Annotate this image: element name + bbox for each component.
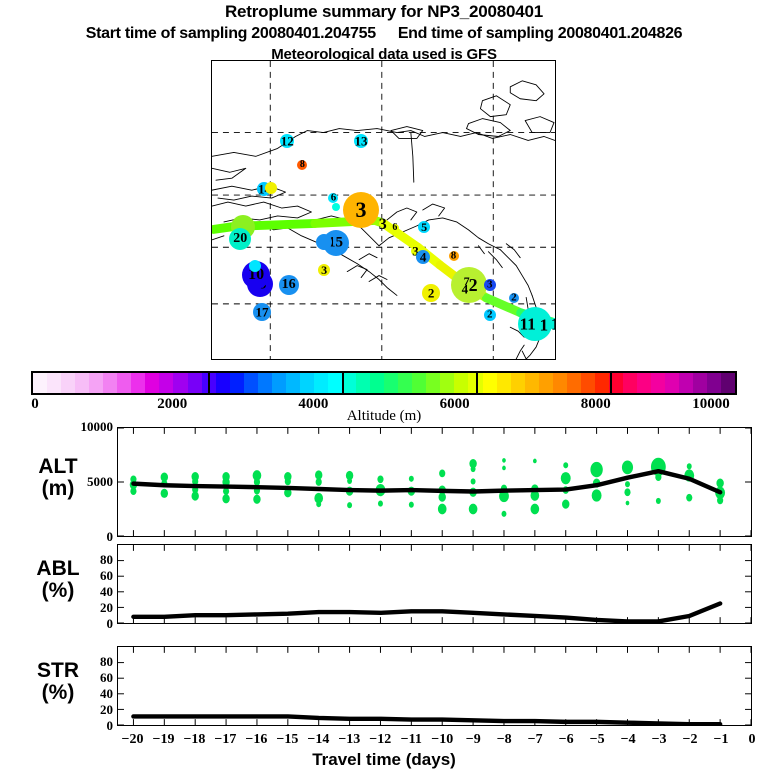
map-marker-label-3-7: 3 <box>356 199 367 221</box>
sampling-time-line: Start time of sampling 20080401.204755En… <box>0 25 768 43</box>
colorbar-swatch-30 <box>454 373 468 393</box>
colorbar-swatch-42 <box>623 373 637 393</box>
alt-scatter-point-54 <box>561 472 571 484</box>
alt-scatter-point-56 <box>562 500 569 509</box>
alt-scatter-point-17 <box>253 495 260 504</box>
alt-scatter-point-37 <box>439 493 446 502</box>
colorbar-swatch-25 <box>384 373 398 393</box>
map-marker-label-2-30: 2 <box>511 293 517 304</box>
colorbar-divider-0 <box>208 371 210 395</box>
colorbar-swatch-2 <box>61 373 75 393</box>
colorbar-swatch-48 <box>707 373 721 393</box>
row-label-name: ABL <box>4 558 112 580</box>
alt-mean-line <box>133 471 720 492</box>
map-marker-label-17-23: 17 <box>256 306 269 319</box>
colorbar-swatch-4 <box>89 373 103 393</box>
colorbar-swatch-21 <box>328 373 342 393</box>
xtick-label--16: −16 <box>245 732 267 748</box>
map-marker-label-3-29: 3 <box>487 280 493 291</box>
colorbar-swatch-5 <box>103 373 117 393</box>
map-marker-label-12-0: 12 <box>281 134 294 147</box>
xtick-label--5: −5 <box>590 732 605 748</box>
alt-scatter-point-57 <box>590 462 602 477</box>
alt-scatter-point-66 <box>656 498 661 504</box>
alt-scatter-point-9 <box>191 491 198 500</box>
alt-scatter-point-29 <box>377 475 383 483</box>
row-label-str: STR(%) <box>4 660 112 704</box>
colorbar-swatch-1 <box>47 373 61 393</box>
colorbar-swatch-27 <box>412 373 426 393</box>
colorbar <box>31 371 737 395</box>
xtick-label--10: −10 <box>431 732 453 748</box>
alt-scatter-point-67 <box>687 463 692 469</box>
colorbar-swatch-11 <box>188 373 202 393</box>
map-marker-label-2-26: 2 <box>469 276 478 294</box>
colorbar-swatch-43 <box>637 373 651 393</box>
panel-abl <box>117 544 752 624</box>
colorbar-swatch-16 <box>258 373 272 393</box>
colorbar-axis-title: Altitude (m) <box>0 408 768 425</box>
alt-scatter-point-43 <box>469 504 478 515</box>
alt-scatter-point-28 <box>347 502 352 508</box>
xtick-label--7: −7 <box>528 732 543 748</box>
colorbar-swatch-7 <box>131 373 145 393</box>
map-marker-dot-6 <box>332 203 340 211</box>
map-marker-label-20-9: 20 <box>233 232 247 246</box>
colorbar-swatch-44 <box>651 373 665 393</box>
alt-scatter-point-35 <box>439 470 445 478</box>
colorbar-swatch-29 <box>440 373 454 393</box>
colorbar-swatch-14 <box>230 373 244 393</box>
alt-scatter-point-44 <box>502 458 506 463</box>
alt-scatter-point-65 <box>655 473 661 481</box>
xtick-label--14: −14 <box>307 732 329 748</box>
colorbar-swatch-32 <box>483 373 497 393</box>
alt-scatter-point-15 <box>254 478 260 486</box>
alt-scatter-point-62 <box>624 488 630 496</box>
x-axis-title: Travel time (days) <box>0 750 768 770</box>
colorbar-divider-1 <box>342 371 344 395</box>
colorbar-swatch-35 <box>525 373 539 393</box>
panel-alt <box>117 427 752 537</box>
alt-scatter-point-38 <box>438 504 447 515</box>
xtick-label-0: 0 <box>749 732 756 748</box>
colorbar-swatch-13 <box>216 373 230 393</box>
colorbar-swatch-45 <box>665 373 679 393</box>
xtick-label--9: −9 <box>466 732 481 748</box>
xtick-label--17: −17 <box>214 732 236 748</box>
colorbar-divider-3 <box>610 371 612 395</box>
xtick-label--11: −11 <box>401 732 422 748</box>
xtick-label--3: −3 <box>652 732 667 748</box>
colorbar-swatch-28 <box>426 373 440 393</box>
alt-scatter-point-34 <box>409 502 414 508</box>
xtick-label--15: −15 <box>276 732 298 748</box>
map-marker-label-2-24: 2 <box>428 286 435 299</box>
retroplume-map: 121381463201536534831910161722473221111 <box>211 60 556 360</box>
map-marker-label-11-33: 11 <box>520 316 536 333</box>
colorbar-swatch-40 <box>595 373 609 393</box>
xtick-label--20: −20 <box>121 732 143 748</box>
abl-line <box>133 604 720 622</box>
colorbar-gradient <box>31 371 737 395</box>
map-marker-label-2-31: 2 <box>487 309 493 320</box>
alt-scatter-point-22 <box>316 478 322 486</box>
alt-scatter-point-13 <box>222 494 229 503</box>
colorbar-swatch-33 <box>497 373 511 393</box>
alt-scatter-point-24 <box>316 501 321 507</box>
map-marker-label-8-17: 8 <box>451 251 457 262</box>
colorbar-swatch-47 <box>693 373 707 393</box>
alt-scatter-point-5 <box>161 489 168 498</box>
map-marker-dot-4 <box>265 182 277 194</box>
alt-scatter-point-52 <box>531 504 540 515</box>
map-marker-label-3-18: 3 <box>321 264 327 276</box>
colorbar-swatch-46 <box>679 373 693 393</box>
map-marker-label-4-16: 4 <box>420 250 427 263</box>
colorbar-swatch-6 <box>117 373 131 393</box>
colorbar-swatch-19 <box>300 373 314 393</box>
colorbar-swatch-15 <box>244 373 258 393</box>
map-marker-dot-21 <box>249 260 261 272</box>
end-time-label: End time of sampling 20080401.204826 <box>398 25 682 42</box>
xtick-label--19: −19 <box>152 732 174 748</box>
alt-scatter-point-19 <box>285 478 291 486</box>
map-marker-dot-11 <box>316 234 332 250</box>
map-marker-label-3-12: 3 <box>379 217 387 233</box>
map-marker-label-7-28: 7 <box>464 275 470 287</box>
colorbar-swatch-9 <box>159 373 173 393</box>
alt-scatter-point-41 <box>471 478 476 484</box>
map-marker-label-1-34: 1 <box>540 317 549 334</box>
alt-scatter-point-70 <box>716 478 723 487</box>
plot-area-abl <box>118 545 751 623</box>
colorbar-swatch-26 <box>398 373 412 393</box>
alt-scatter-point-61 <box>625 481 630 487</box>
start-time-label: Start time of sampling 20080401.204755 <box>86 25 376 42</box>
colorbar-swatch-23 <box>356 373 370 393</box>
map-marker-label-6-13: 6 <box>392 223 397 233</box>
alt-scatter-point-32 <box>409 476 414 482</box>
colorbar-swatch-3 <box>75 373 89 393</box>
plot-area-str <box>118 647 751 725</box>
colorbar-swatch-10 <box>173 373 187 393</box>
xtick-label--13: −13 <box>338 732 360 748</box>
map-marker-label-13-1: 13 <box>355 134 368 147</box>
alt-scatter-point-26 <box>347 478 352 484</box>
colorbar-swatch-34 <box>511 373 525 393</box>
xtick-label--4: −4 <box>621 732 636 748</box>
alt-scatter-point-48 <box>502 511 507 517</box>
xtick-label--6: −6 <box>559 732 574 748</box>
page-title: Retroplume summary for NP3_20080401 <box>0 2 768 22</box>
alt-scatter-point-59 <box>592 489 602 501</box>
alt-scatter-point-2 <box>130 487 136 495</box>
colorbar-swatch-37 <box>553 373 567 393</box>
xtick-label--18: −18 <box>183 732 205 748</box>
row-label-name: STR <box>4 660 112 682</box>
alt-scatter-point-60 <box>622 461 633 475</box>
colorbar-swatch-24 <box>370 373 384 393</box>
panel-str <box>117 646 752 726</box>
alt-scatter-point-53 <box>563 462 568 468</box>
xtick-label--12: −12 <box>369 732 391 748</box>
colorbar-swatch-22 <box>342 373 356 393</box>
colorbar-swatch-36 <box>539 373 553 393</box>
alt-scatter-point-31 <box>378 501 383 507</box>
row-label-unit: (%) <box>4 580 112 602</box>
alt-scatter-point-72 <box>717 497 723 505</box>
map-marker-label-5-14: 5 <box>421 221 427 233</box>
row-label-abl: ABL(%) <box>4 558 112 602</box>
colorbar-swatch-18 <box>286 373 300 393</box>
xtick-label--1: −1 <box>714 732 729 748</box>
colorbar-swatch-38 <box>567 373 581 393</box>
alt-scatter-point-63 <box>626 501 630 506</box>
colorbar-swatch-49 <box>721 373 735 393</box>
str-line <box>133 716 720 724</box>
alt-scatter-point-40 <box>471 466 476 472</box>
map-marker-label-8-2: 8 <box>300 160 305 170</box>
xtick-label--8: −8 <box>497 732 512 748</box>
alt-scatter-point-49 <box>533 459 537 464</box>
alt-scatter-point-69 <box>686 494 692 502</box>
map-marker-label-16-22: 16 <box>282 278 296 292</box>
alt-scatter-point-45 <box>502 466 506 471</box>
colorbar-swatch-0 <box>33 373 47 393</box>
map-marker-label-1-35: 1 <box>551 316 556 333</box>
xtick-label--2: −2 <box>683 732 698 748</box>
colorbar-swatch-39 <box>581 373 595 393</box>
colorbar-divider-2 <box>476 371 478 395</box>
colorbar-swatch-8 <box>145 373 159 393</box>
row-label-unit: (%) <box>4 682 112 704</box>
colorbar-swatch-17 <box>272 373 286 393</box>
map-marker-label-6-5: 6 <box>331 192 337 203</box>
plot-area-alt <box>118 428 751 536</box>
colorbar-swatch-20 <box>314 373 328 393</box>
